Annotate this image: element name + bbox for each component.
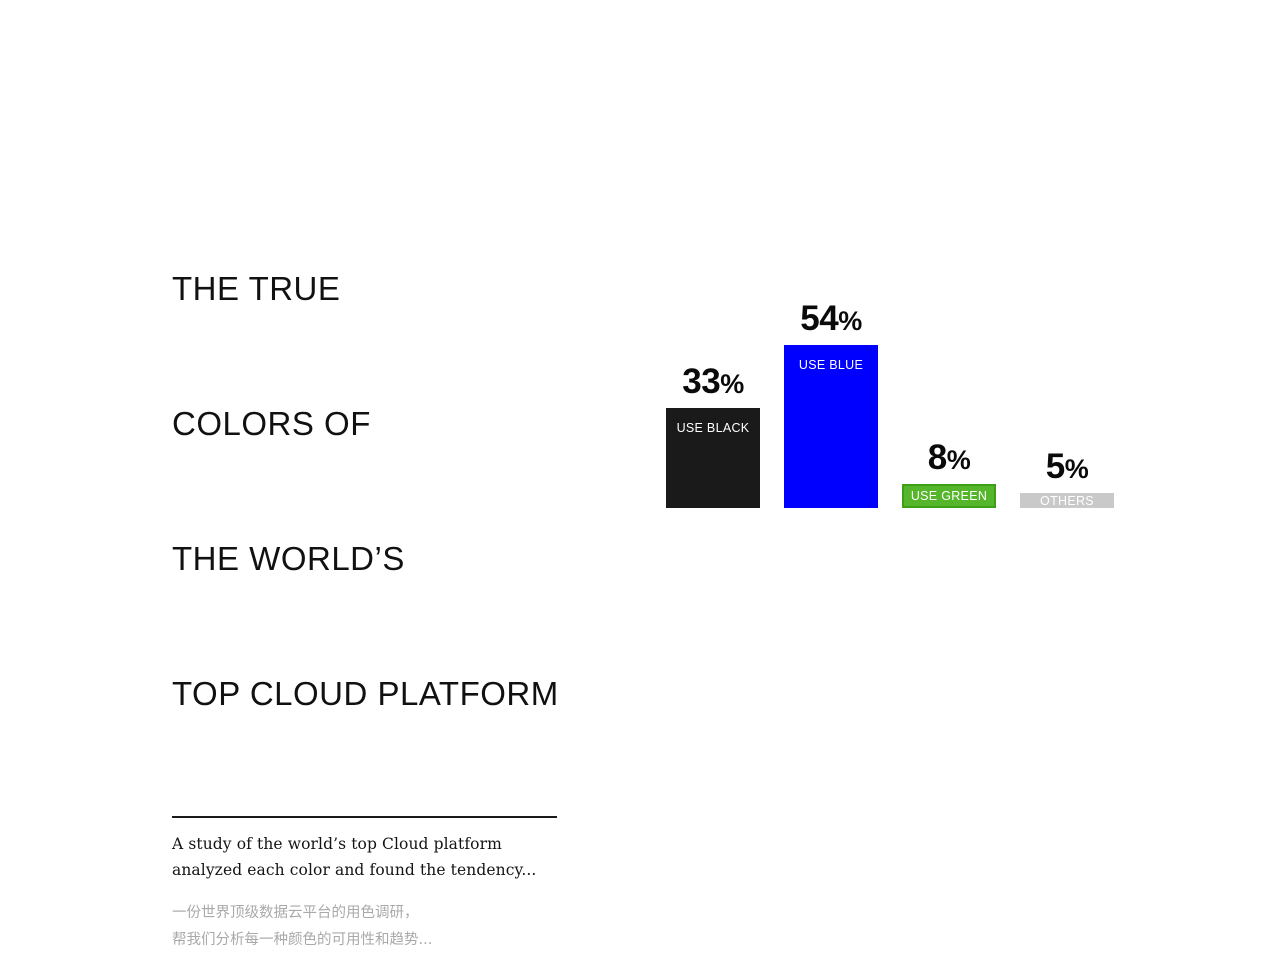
bar-chart: 33% USE BLACK 54% USE BLUE 8% USE GREEN … — [640, 240, 1160, 508]
bar-group-use-black: 33% USE BLACK — [666, 408, 760, 508]
headline-line-4: TOP CLOUD PLATFORM — [172, 671, 572, 716]
subtitle-line-2: analyzed each color and found the tenden… — [172, 857, 572, 883]
bar-value-unit-use-green: % — [947, 445, 971, 475]
headline-line-2: COLORS OF — [172, 401, 572, 446]
bar-value-number-use-black: 33 — [682, 362, 720, 401]
bar-group-use-blue: 54% USE BLUE — [784, 345, 878, 508]
bar-use-green[interactable]: USE GREEN — [902, 484, 996, 508]
bar-value-number-use-blue: 54 — [800, 299, 838, 338]
bar-value-use-green: 8% — [902, 438, 996, 484]
bar-value-use-blue: 54% — [784, 299, 878, 345]
subtitle-line-1: A study of the world’s top Cloud platfor… — [172, 831, 572, 857]
bar-label-use-blue: USE BLUE — [784, 358, 878, 372]
bar-use-black[interactable]: USE BLACK — [666, 408, 760, 508]
bar-label-use-black: USE BLACK — [666, 421, 760, 435]
bar-label-use-green: USE GREEN — [904, 489, 994, 503]
text-panel: THE TRUE COLORS OF THE WORLD’S TOP CLOUD… — [172, 176, 572, 954]
page-title: THE TRUE COLORS OF THE WORLD’S TOP CLOUD… — [172, 176, 572, 806]
bar-use-blue[interactable]: USE BLUE — [784, 345, 878, 508]
bar-others[interactable]: OTHERS — [1020, 493, 1114, 508]
title-divider — [172, 816, 557, 818]
subtitle: A study of the world’s top Cloud platfor… — [172, 831, 572, 883]
bar-value-number-use-green: 8 — [928, 438, 947, 477]
chinese-line-1: 一份世界顶级数据云平台的用色调研， — [172, 900, 572, 927]
chinese-description: 一份世界顶级数据云平台的用色调研， 帮我们分析每一种颜色的可用性和趋势... — [172, 900, 572, 954]
slide-canvas: THE TRUE COLORS OF THE WORLD’S TOP CLOUD… — [0, 0, 1280, 720]
bar-value-unit-others: % — [1065, 454, 1089, 484]
bar-group-others: 5% OTHERS — [1020, 493, 1114, 508]
headline-line-3: THE WORLD’S — [172, 536, 572, 581]
bar-value-use-black: 33% — [666, 362, 760, 408]
bar-group-use-green: 8% USE GREEN — [902, 484, 996, 508]
bar-value-others: 5% — [1020, 447, 1114, 493]
bar-value-unit-use-blue: % — [838, 306, 862, 336]
bar-value-unit-use-black: % — [720, 369, 744, 399]
headline-line-1: THE TRUE — [172, 266, 572, 311]
bar-value-number-others: 5 — [1046, 447, 1065, 486]
bar-label-others: OTHERS — [1020, 494, 1114, 508]
chinese-line-2: 帮我们分析每一种颜色的可用性和趋势... — [172, 927, 572, 954]
